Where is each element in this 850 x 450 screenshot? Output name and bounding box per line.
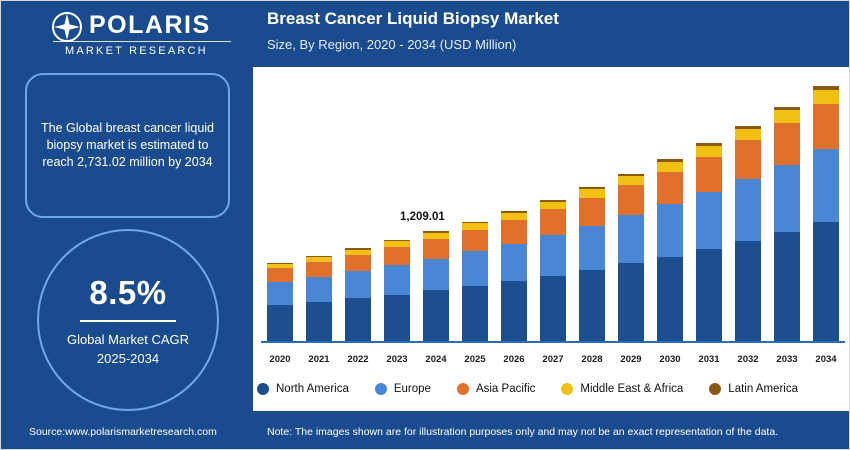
x-axis-tick-label: 2031 <box>696 354 722 365</box>
bar-segment[interactable] <box>657 204 683 256</box>
legend-item[interactable]: Middle East & Africa <box>561 383 683 395</box>
legend-label: Middle East & Africa <box>580 383 683 395</box>
bar-segment[interactable] <box>306 302 332 343</box>
x-axis-tick-label: 2034 <box>813 354 839 365</box>
x-axis-tick-label: 2026 <box>501 354 527 365</box>
x-axis-tick-label: 2032 <box>735 354 761 365</box>
bar-segment[interactable] <box>501 213 527 220</box>
bar-segment[interactable] <box>774 232 800 343</box>
cagr-divider <box>80 320 176 322</box>
bar-column[interactable] <box>813 71 839 343</box>
legend-item[interactable]: Europe <box>375 383 431 395</box>
bar-segment[interactable] <box>735 140 761 179</box>
bar-segment[interactable] <box>813 90 839 104</box>
bar-segment[interactable] <box>384 295 410 343</box>
legend-label: North America <box>276 383 349 395</box>
cagr-circle: 8.5% Global Market CAGR 2025-2034 <box>37 229 219 411</box>
bar-column[interactable] <box>423 71 449 343</box>
bar-segment[interactable] <box>267 268 293 282</box>
bar-segment[interactable] <box>501 220 527 244</box>
x-axis-tick-label: 2023 <box>384 354 410 365</box>
bar-segment[interactable] <box>696 249 722 343</box>
x-axis-tick-label: 2020 <box>267 354 293 365</box>
bar-column[interactable] <box>735 71 761 343</box>
x-axis-tick-label: 2025 <box>462 354 488 365</box>
bar-segment[interactable] <box>735 241 761 343</box>
bar-segment[interactable] <box>696 157 722 193</box>
callout-box: The Global breast cancer liquid biopsy m… <box>25 73 230 218</box>
bar-segment[interactable] <box>579 189 605 197</box>
bar-segment[interactable] <box>345 271 371 298</box>
cagr-label-secondary: 2025-2034 <box>97 351 159 366</box>
bar-segment[interactable] <box>306 277 332 302</box>
bar-column[interactable] <box>657 71 683 343</box>
bar-segment[interactable] <box>696 192 722 249</box>
legend-dot-icon <box>257 383 269 395</box>
bar-segment[interactable] <box>540 202 566 210</box>
bar-segment[interactable] <box>384 247 410 265</box>
x-axis-line <box>261 341 845 343</box>
bar-segment[interactable] <box>618 185 644 215</box>
bar-segment[interactable] <box>618 263 644 343</box>
legend-item[interactable]: Asia Pacific <box>457 383 535 395</box>
bar-segment[interactable] <box>540 209 566 235</box>
x-axis-tick-label: 2021 <box>306 354 332 365</box>
cagr-label-primary: Global Market CAGR <box>67 332 189 347</box>
bar-segment[interactable] <box>540 276 566 343</box>
bar-column[interactable] <box>618 71 644 343</box>
bar-segment[interactable] <box>618 176 644 185</box>
bar-segment[interactable] <box>696 146 722 157</box>
legend-dot-icon <box>561 383 573 395</box>
bar-segment[interactable] <box>735 129 761 141</box>
bar-segment[interactable] <box>774 110 800 123</box>
legend-item[interactable]: North America <box>257 383 349 395</box>
x-axis-tick-label: 2027 <box>540 354 566 365</box>
stacked-bar-chart: 2020202120222023202420252026202720282029… <box>257 71 845 371</box>
bar-segment[interactable] <box>813 149 839 222</box>
bar-segment[interactable] <box>462 251 488 286</box>
bar-column[interactable] <box>267 71 293 343</box>
bar-segment[interactable] <box>618 215 644 263</box>
bar-segment[interactable] <box>774 123 800 165</box>
brand-logo: POLARIS MARKET RESEARCH <box>21 9 235 61</box>
brand-subtitle: MARKET RESEARCH <box>65 45 208 57</box>
compass-star-icon <box>51 11 83 43</box>
x-axis-labels: 2020202120222023202420252026202720282029… <box>267 354 839 365</box>
bar-segment[interactable] <box>540 235 566 276</box>
infographic-page: POLARIS MARKET RESEARCH Breast Cancer Li… <box>0 0 850 450</box>
bar-segment[interactable] <box>267 282 293 305</box>
legend-label: Latin America <box>728 383 798 395</box>
callout-text: The Global breast cancer liquid biopsy m… <box>39 120 216 171</box>
bar-segment[interactable] <box>345 255 371 272</box>
x-axis-tick-label: 2029 <box>618 354 644 365</box>
x-axis-tick-label: 2030 <box>657 354 683 365</box>
bar-column[interactable] <box>462 71 488 343</box>
legend-item[interactable]: Latin America <box>709 383 798 395</box>
page-subtitle: Size, By Region, 2020 - 2034 (USD Millio… <box>267 37 516 52</box>
bar-segment[interactable] <box>657 257 683 344</box>
x-axis-tick-label: 2024 <box>423 354 449 365</box>
bar-segment[interactable] <box>501 281 527 343</box>
x-axis-tick-label: 2022 <box>345 354 371 365</box>
bar-segment[interactable] <box>579 226 605 270</box>
bar-segment[interactable] <box>501 244 527 281</box>
bar-segment[interactable] <box>267 305 293 343</box>
bar-segment[interactable] <box>813 222 839 343</box>
bar-segment[interactable] <box>579 270 605 343</box>
bar-segment[interactable] <box>384 265 410 294</box>
bar-segment[interactable] <box>657 172 683 205</box>
bar-column[interactable] <box>579 71 605 343</box>
bar-segment[interactable] <box>306 262 332 278</box>
data-label-annotation: 1,209.01 <box>400 211 445 223</box>
legend-dot-icon <box>457 383 469 395</box>
legend-dot-icon <box>375 383 387 395</box>
legend-dot-icon <box>709 383 721 395</box>
bar-segment[interactable] <box>579 198 605 226</box>
bar-segment[interactable] <box>423 259 449 291</box>
bar-segment[interactable] <box>735 179 761 241</box>
bar-column[interactable] <box>696 71 722 343</box>
bar-column[interactable] <box>384 71 410 343</box>
brand-name: POLARIS <box>89 11 211 40</box>
cagr-value: 8.5% <box>89 274 166 312</box>
chart-legend: North AmericaEuropeAsia PacificMiddle Ea… <box>257 383 837 395</box>
bar-column[interactable] <box>345 71 371 343</box>
bar-column[interactable] <box>306 71 332 343</box>
x-axis-tick-label: 2028 <box>579 354 605 365</box>
bar-segment[interactable] <box>462 230 488 252</box>
bar-column[interactable] <box>501 71 527 343</box>
bar-column[interactable] <box>540 71 566 343</box>
bar-segment[interactable] <box>462 286 488 343</box>
legend-label: Europe <box>394 383 431 395</box>
source-text: Source:www.polarismarketresearch.com <box>29 426 217 438</box>
brand-divider <box>53 41 231 42</box>
bar-segment[interactable] <box>813 104 839 150</box>
bar-columns <box>267 71 839 343</box>
bar-column[interactable] <box>774 71 800 343</box>
bar-segment[interactable] <box>423 239 449 259</box>
legend-label: Asia Pacific <box>476 383 535 395</box>
note-text: Note: The images shown are for illustrat… <box>267 426 778 438</box>
page-title: Breast Cancer Liquid Biopsy Market <box>267 9 559 29</box>
x-axis-tick-label: 2033 <box>774 354 800 365</box>
bar-segment[interactable] <box>774 165 800 232</box>
bar-segment[interactable] <box>345 298 371 343</box>
bar-segment[interactable] <box>657 162 683 172</box>
bar-segment[interactable] <box>423 290 449 343</box>
